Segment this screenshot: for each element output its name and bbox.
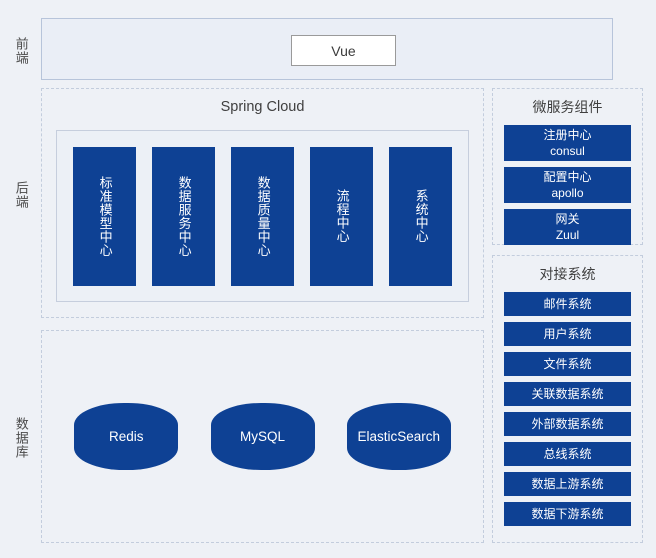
integration-chip-file-system[interactable]: 文件系统 xyxy=(504,352,631,376)
microservice-chip-gateway[interactable]: 网关 Zuul xyxy=(504,209,631,245)
service-strip: 标准模型中心 数据服务中心 数据质量中心 流程中心 系统中心 xyxy=(56,130,469,302)
integration-chip-bus-system[interactable]: 总线系统 xyxy=(504,442,631,466)
integration-systems-title: 对接系统 xyxy=(493,264,642,284)
spring-cloud-title: Spring Cloud xyxy=(42,99,483,115)
microservice-chip-config[interactable]: 配置中心 apollo xyxy=(504,167,631,203)
integration-chip-related-data-system[interactable]: 关联数据系统 xyxy=(504,382,631,406)
service-box-data-quality-center[interactable]: 数据质量中心 xyxy=(231,147,294,286)
database-cylinder-mysql[interactable]: MySQL xyxy=(211,403,315,470)
microservice-chip-gateway-sub: Zuul xyxy=(556,227,579,243)
tier-label-backend: 后端 xyxy=(4,170,38,220)
service-box-standard-model-center[interactable]: 标准模型中心 xyxy=(73,147,136,286)
tier-label-frontend: 前端 xyxy=(4,26,38,76)
integration-systems-panel: 对接系统 邮件系统 用户系统 文件系统 关联数据系统 外部数据系统 总线系统 数… xyxy=(492,255,643,543)
architecture-diagram: 前端 后端 数据库 Vue Spring Cloud 标准模型中心 数据服务中心… xyxy=(0,0,656,558)
microservice-chip-registry-label: 注册中心 xyxy=(543,127,591,143)
vue-node[interactable]: Vue xyxy=(291,35,396,66)
integration-chip-user-system[interactable]: 用户系统 xyxy=(504,322,631,346)
integration-systems-list: 邮件系统 用户系统 文件系统 关联数据系统 外部数据系统 总线系统 数据上游系统… xyxy=(493,292,642,526)
microservice-chip-config-label: 配置中心 xyxy=(543,169,591,185)
database-cylinder-elasticsearch[interactable]: ElasticSearch xyxy=(347,403,451,470)
database-row: Redis MySQL ElasticSearch xyxy=(42,403,483,470)
tier-label-database: 数据库 xyxy=(4,400,38,476)
database-cylinder-redis[interactable]: Redis xyxy=(74,403,178,470)
microservice-chip-registry-sub: consul xyxy=(550,143,585,159)
microservice-components-title: 微服务组件 xyxy=(493,97,642,117)
integration-chip-downstream-data-system[interactable]: 数据下游系统 xyxy=(504,502,631,526)
service-box-system-center[interactable]: 系统中心 xyxy=(389,147,452,286)
database-panel: Redis MySQL ElasticSearch xyxy=(41,330,484,543)
service-row: 标准模型中心 数据服务中心 数据质量中心 流程中心 系统中心 xyxy=(57,131,468,301)
microservice-chip-gateway-label: 网关 xyxy=(555,211,579,227)
spring-cloud-panel: Spring Cloud 标准模型中心 数据服务中心 数据质量中心 流程中心 系… xyxy=(41,88,484,318)
microservice-components-panel: 微服务组件 注册中心 consul 配置中心 apollo 网关 Zuul xyxy=(492,88,643,245)
integration-chip-mail-system[interactable]: 邮件系统 xyxy=(504,292,631,316)
integration-chip-external-data-system[interactable]: 外部数据系统 xyxy=(504,412,631,436)
service-box-process-center[interactable]: 流程中心 xyxy=(310,147,373,286)
microservice-components-list: 注册中心 consul 配置中心 apollo 网关 Zuul xyxy=(493,125,642,245)
microservice-chip-config-sub: apollo xyxy=(551,185,583,201)
integration-chip-upstream-data-system[interactable]: 数据上游系统 xyxy=(504,472,631,496)
microservice-chip-registry[interactable]: 注册中心 consul xyxy=(504,125,631,161)
frontend-panel: Vue xyxy=(41,18,613,80)
service-box-data-service-center[interactable]: 数据服务中心 xyxy=(152,147,215,286)
